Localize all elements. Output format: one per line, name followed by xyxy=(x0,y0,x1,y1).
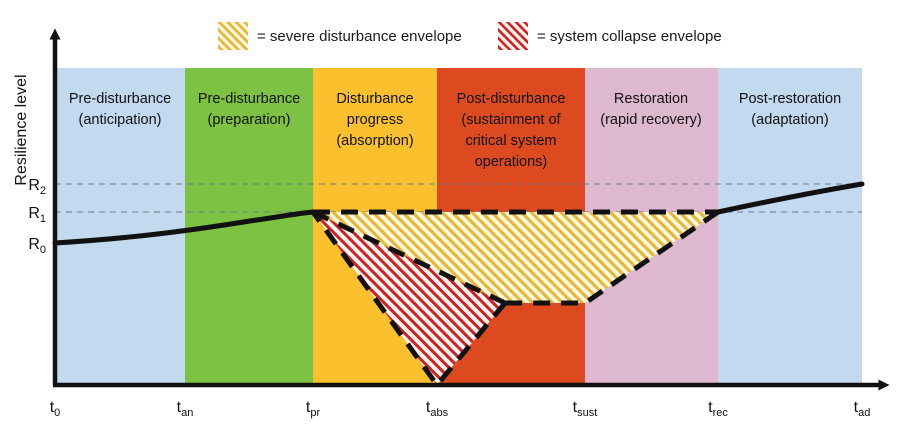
svg-text:Post-restoration: Post-restoration xyxy=(739,91,841,107)
legend-label-system-collapse: = system collapse envelope xyxy=(537,28,722,45)
svg-text:critical system: critical system xyxy=(465,133,556,149)
red-hatch-swatch xyxy=(498,22,528,50)
svg-text:Pre-disturbance: Pre-disturbance xyxy=(69,91,171,107)
y-tick-labels: R2 R1 R0 xyxy=(28,177,46,256)
svg-text:Resilience level: Resilience level xyxy=(13,74,30,185)
svg-text:operations): operations) xyxy=(475,154,548,170)
legend-label-severe-disturbance: = severe disturbance envelope xyxy=(257,28,462,45)
svg-text:(anticipation): (anticipation) xyxy=(78,112,161,128)
resilience-diagram-svg: = severe disturbance envelope = system c… xyxy=(0,0,920,432)
svg-text:progress: progress xyxy=(347,112,403,128)
svg-text:Post-disturbance: Post-disturbance xyxy=(457,91,566,107)
svg-text:Disturbance: Disturbance xyxy=(336,91,413,107)
svg-text:Pre-disturbance: Pre-disturbance xyxy=(198,91,300,107)
y-axis-title: Resilience level xyxy=(13,74,30,185)
resilience-curve-figure: = severe disturbance envelope = system c… xyxy=(0,0,920,432)
svg-text:(rapid recovery): (rapid recovery) xyxy=(600,112,702,128)
svg-text:(adaptation): (adaptation) xyxy=(751,112,828,128)
phase-label-disturbance-progress-absorption: Disturbance progress (absorption) xyxy=(336,91,413,149)
svg-text:(absorption): (absorption) xyxy=(336,133,413,149)
svg-text:Restoration: Restoration xyxy=(614,91,688,107)
svg-text:(preparation): (preparation) xyxy=(207,112,290,128)
yellow-hatch-swatch xyxy=(218,22,248,50)
svg-text:(sustainment of: (sustainment of xyxy=(461,112,561,128)
